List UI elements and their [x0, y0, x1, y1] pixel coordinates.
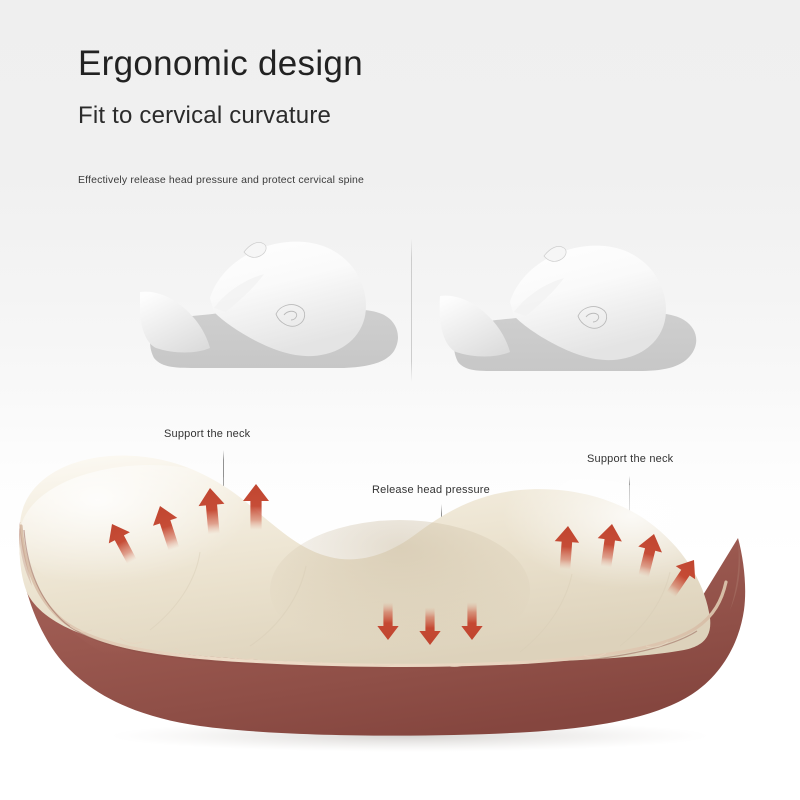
page-title: Ergonomic design: [78, 44, 363, 84]
annotation-support-neck-left: Support the neck: [164, 428, 250, 440]
diagram-head-on-pillow-left: [140, 230, 420, 395]
pillow-product-photo: [0, 440, 800, 800]
diagram-head-on-pillow-right: [432, 230, 712, 395]
pillow-center-dip-shade: [270, 520, 530, 660]
diagram-divider: [411, 238, 412, 382]
infographic-page: Ergonomic design Fit to cervical curvatu…: [0, 0, 800, 800]
pillow-left-lobe-highlight: [20, 465, 280, 605]
page-note: Effectively release head pressure and pr…: [78, 174, 364, 186]
page-subtitle: Fit to cervical curvature: [78, 102, 331, 130]
